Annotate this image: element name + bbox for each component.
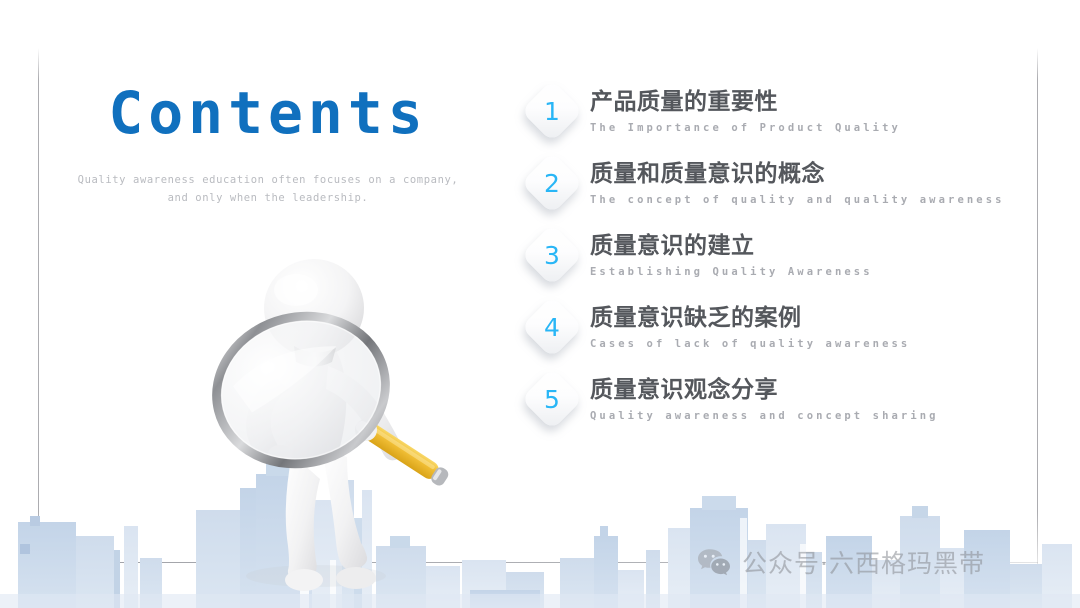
toc-badge-2: 2 <box>524 158 590 220</box>
page-title: Contents <box>38 80 498 147</box>
toc-text-1: 产品质量的重要性 The Importance of Product Quali… <box>590 86 1034 134</box>
mannequin-with-magnifier-illustration <box>196 258 496 608</box>
toc-item-2[interactable]: 2 质量和质量意识的概念 The concept of quality and … <box>524 158 1034 230</box>
toc-item-1[interactable]: 1 产品质量的重要性 The Importance of Product Qua… <box>524 86 1034 158</box>
toc-item-3[interactable]: 3 质量意识的建立 Establishing Quality Awareness <box>524 230 1034 302</box>
toc-number: 4 <box>530 305 574 349</box>
toc-title-cn: 质量意识的建立 <box>590 232 1034 261</box>
toc-number: 3 <box>530 233 574 277</box>
wechat-icon <box>697 548 731 576</box>
frame-line-right <box>1037 48 1038 564</box>
toc-item-4[interactable]: 4 质量意识缺乏的案例 Cases of lack of quality awa… <box>524 302 1034 374</box>
toc-number: 1 <box>530 89 574 133</box>
toc-title-en: Cases of lack of quality awareness <box>590 338 1034 350</box>
toc-title-cn: 质量意识观念分享 <box>590 376 1034 405</box>
city-skyline-background <box>0 440 1080 608</box>
toc-badge-1: 1 <box>524 86 590 148</box>
toc-title-en: The Importance of Product Quality <box>590 122 1034 134</box>
toc-title-cn: 产品质量的重要性 <box>590 88 1034 117</box>
toc-text-3: 质量意识的建立 Establishing Quality Awareness <box>590 230 1034 278</box>
toc-title-en: Quality awareness and concept sharing <box>590 410 1034 422</box>
table-of-contents: 1 产品质量的重要性 The Importance of Product Qua… <box>524 86 1034 446</box>
toc-number: 5 <box>530 377 574 421</box>
toc-title-en: Establishing Quality Awareness <box>590 266 1034 278</box>
toc-badge-5: 5 <box>524 374 590 436</box>
toc-title-cn: 质量意识缺乏的案例 <box>590 304 1034 333</box>
toc-badge-3: 3 <box>524 230 590 292</box>
watermark-text: 公众号·六西格玛黑带 <box>742 544 985 580</box>
slide-contents: Contents Quality awareness education oft… <box>0 0 1080 608</box>
toc-badge-4: 4 <box>524 302 590 364</box>
toc-title-cn: 质量和质量意识的概念 <box>590 160 1034 189</box>
toc-title-en: The concept of quality and quality aware… <box>590 194 1034 206</box>
page-subtitle: Quality awareness education often focuse… <box>38 171 498 208</box>
toc-number: 2 <box>530 161 574 205</box>
watermark: 公众号·六西格玛黑带 <box>697 544 985 580</box>
toc-text-4: 质量意识缺乏的案例 Cases of lack of quality aware… <box>590 302 1034 350</box>
toc-text-5: 质量意识观念分享 Quality awareness and concept s… <box>590 374 1034 422</box>
left-column: Contents Quality awareness education oft… <box>38 80 498 207</box>
toc-item-5[interactable]: 5 质量意识观念分享 Quality awareness and concept… <box>524 374 1034 446</box>
toc-text-2: 质量和质量意识的概念 The concept of quality and qu… <box>590 158 1034 206</box>
